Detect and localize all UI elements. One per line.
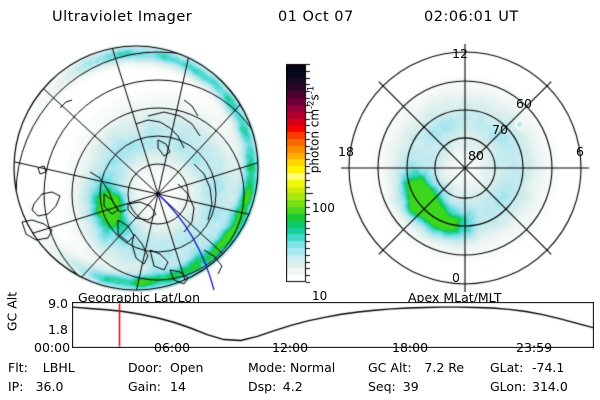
geographic-aurora-image: [8, 44, 266, 292]
altitude-tick-high: 9.0: [48, 296, 68, 311]
time-tick-0600: 06:00: [154, 340, 190, 355]
colorbar-gradient: [286, 62, 314, 284]
observation-date: 01 Oct 07: [278, 9, 354, 25]
time-tick-0000: 00:00: [34, 340, 70, 355]
status-field-value-3: 39: [403, 379, 419, 394]
altitude-timeline-panel[interactable]: Geographic Lat/Lon Apex MLat/MLT GC Alt …: [0, 292, 600, 356]
status-field-label-2: Mode:: [248, 360, 286, 375]
status-field-label-3: GC Alt:: [368, 360, 412, 375]
instrument-title: Ultraviolet Imager: [52, 9, 192, 25]
status-field-value-2: 4.2: [283, 379, 303, 394]
status-field-value-0: LBHL: [43, 360, 75, 375]
observation-time: 02:06:01 UT: [424, 9, 519, 25]
header-bar: Ultraviolet Imager 01 Oct 07 02:06:01 UT: [0, 4, 600, 32]
status-field-label-3: Seq:: [368, 379, 396, 394]
status-field-label-1: Gain:: [128, 379, 161, 394]
status-field-label-1: Door:: [128, 360, 162, 375]
apex-mlt-dial-panel[interactable]: 12 18 6 0 60 70 80: [336, 44, 594, 292]
mlat-label-60: 60: [516, 96, 532, 111]
time-tick-2359: 23:59: [516, 340, 552, 355]
status-field-label-2: Dsp:: [248, 379, 276, 394]
colorbar-tick-100: 100: [312, 201, 335, 215]
status-field-value-0: 36.0: [36, 379, 64, 394]
status-field-value-2: Normal: [290, 360, 335, 375]
status-field-value-1: Open: [170, 360, 203, 375]
mlt-label-0: 0: [452, 270, 460, 285]
status-field-value-4: 314.0: [532, 379, 568, 394]
mlt-dial-aurora-image: [336, 44, 594, 292]
altitude-axis-label: GC Alt: [5, 286, 20, 338]
altitude-tick-low: 1.8: [48, 322, 68, 337]
status-field-label-4: GLat:: [490, 360, 523, 375]
status-row-2: IP:36.0Gain:14Dsp:4.2Seq:39GLon:314.0: [0, 379, 600, 398]
status-field-value-1: 14: [170, 379, 186, 394]
status-bar: Flt:LBHLDoor:OpenMode:NormalGC Alt:7.2 R…: [0, 360, 600, 400]
mlat-label-70: 70: [492, 122, 508, 137]
status-field-label-4: GLon:: [490, 379, 526, 394]
status-field-value-4: -74.1: [532, 360, 564, 375]
mlt-label-6: 6: [576, 144, 584, 159]
status-row-1: Flt:LBHLDoor:OpenMode:NormalGC Alt:7.2 R…: [0, 360, 600, 379]
colorbar-panel: photon cm-2s-1 100 10: [260, 62, 338, 284]
status-field-label-0: IP:: [8, 379, 23, 394]
geographic-image-panel[interactable]: [8, 44, 266, 292]
mlt-label-18: 18: [338, 144, 354, 159]
mlat-label-80: 80: [468, 148, 484, 163]
time-tick-1800: 18:00: [392, 340, 428, 355]
status-field-label-0: Flt:: [8, 360, 28, 375]
time-tick-1200: 12:00: [272, 340, 308, 355]
mlt-label-12: 12: [452, 46, 468, 61]
status-field-value-3: 7.2 Re: [424, 360, 464, 375]
